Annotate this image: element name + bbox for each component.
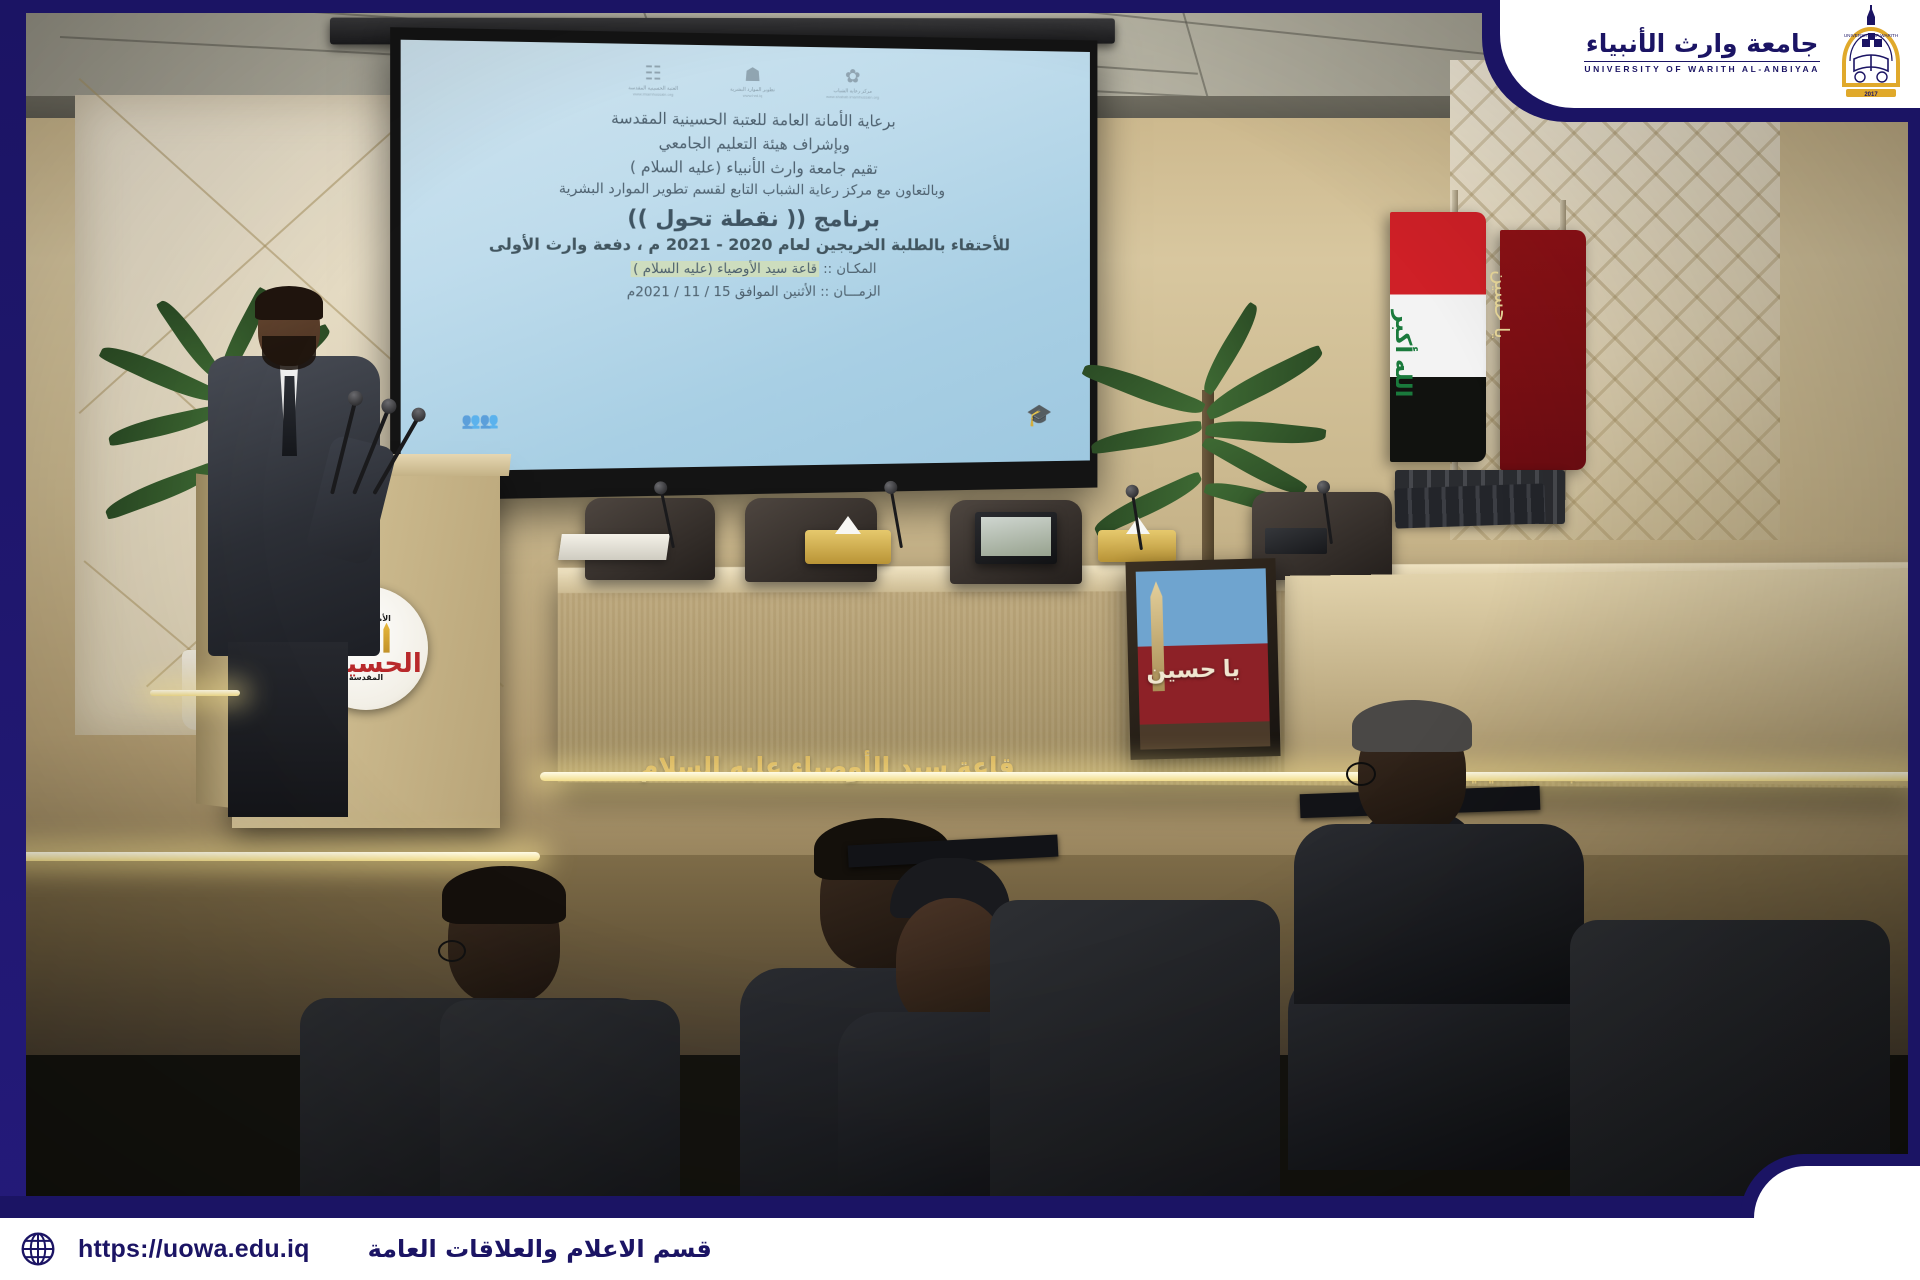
- al-abbas-holy-shrine-logo: ☷ العتبة الحسينية المقدسة www.imamhussai…: [628, 64, 678, 97]
- projector-screen: ☷ العتبة الحسينية المقدسة www.imamhussai…: [390, 27, 1097, 501]
- graduation-cap-icon: 🎓: [1026, 403, 1052, 429]
- iraq-flag: الله أكبر: [1390, 212, 1486, 462]
- wordmark-english: UNIVERSITY OF WARITH AL-ANBIYAA: [1584, 61, 1820, 74]
- header-badge: جامعة وارث الأنبياء UNIVERSITY OF WARITH…: [1500, 0, 1920, 108]
- slide-line-4: وبالتعاون مع مركز رعاية الشباب التابع لق…: [428, 178, 1066, 204]
- name-plate: [1265, 528, 1327, 554]
- laptop-on-table: [975, 512, 1057, 564]
- red-flag-text: يا حسين: [1489, 270, 1514, 339]
- bottom-right-curve-inner: [1754, 1166, 1920, 1218]
- slide-subtitle: للأحتفاء بالطلبة الخريجين لعام 2020 - 20…: [428, 234, 1066, 254]
- venue-label: المكـان ::: [823, 261, 876, 277]
- red-ceremonial-flag: يا حسين: [1500, 230, 1586, 470]
- slide-time-row: الزمـــان :: الأثنين الموافق 15 / 11 / 2…: [428, 283, 1066, 300]
- slide-logo-row: ☷ العتبة الحسينية المقدسة www.imamhussai…: [628, 64, 879, 100]
- led-strip: [150, 690, 240, 696]
- photograph: ☷ العتبة الحسينية المقدسة www.imamhussai…: [0, 0, 1920, 1280]
- book-dome-icon: ☗: [744, 66, 761, 85]
- crest-year: 2017: [1864, 92, 1878, 98]
- department-label: قسم الاعلام والعلاقات العامة: [368, 1235, 712, 1263]
- shrine-icon: ☷: [645, 64, 662, 83]
- globe-icon: [20, 1231, 56, 1267]
- youth-care-center-logo: ✿ مركز رعاية الشباب www.shabab.imamhussa…: [826, 67, 879, 100]
- bottom-brand-bar: [0, 1196, 1920, 1218]
- logo-url: www.imamhussain.org: [633, 91, 673, 97]
- logo-url: www.shabab.imamhussain.org: [826, 94, 879, 100]
- event-photo-card: ☷ العتبة الحسينية المقدسة www.imamhussai…: [0, 0, 1920, 1280]
- human-resources-development-logo: ☗ تطوير الموارد البشرية www.hrd.iq: [730, 66, 775, 99]
- slide-surface: ☷ العتبة الحسينية المقدسة www.imamhussai…: [401, 40, 1090, 472]
- venue-value: قاعة سيد الأوصياء (عليه السلام ): [631, 261, 819, 277]
- logo-url: www.hrd.iq: [743, 93, 762, 98]
- youth-icon: ✿: [845, 67, 861, 86]
- university-wordmark: جامعة وارث الأنبياء UNIVERSITY OF WARITH…: [1584, 29, 1820, 74]
- right-brand-bar: [1908, 90, 1920, 1280]
- led-strip: [0, 852, 540, 861]
- speaker-at-podium: [200, 290, 390, 810]
- tissue-box: [805, 530, 891, 564]
- university-crest-logo: UNIVERSITY OF WARITH 2017: [1834, 3, 1908, 99]
- framed-photo-text: يا حسين: [1146, 655, 1240, 684]
- slide-text-block: برعاية الأمانة العامة للعتبة الحسينية ال…: [428, 104, 1066, 301]
- left-brand-bar: [0, 0, 26, 1280]
- audience-member-back-right: [1300, 700, 1600, 960]
- slide-program-title: برنامج (( نقطة تحول )): [428, 205, 1066, 232]
- time-value: الأثنين الموافق 15 / 11 / 2021م: [627, 284, 816, 300]
- stacked-gift-boxes: [1394, 483, 1545, 528]
- footer-bar: https://uowa.edu.iq قسم الاعلام والعلاقا…: [0, 1218, 1920, 1280]
- slide-venue-row: المكـان :: قاعة سيد الأوصياء (عليه السلا…: [428, 261, 1066, 277]
- led-strip: [540, 772, 1920, 781]
- iraq-flag-kufic-text: الله أكبر: [1390, 310, 1416, 397]
- wordmark-arabic: جامعة وارث الأنبياء: [1586, 29, 1819, 58]
- top-brand-bar: [26, 0, 1526, 13]
- framed-photograph: يا حسين: [1125, 558, 1280, 760]
- time-label: الزمـــان ::: [820, 284, 880, 300]
- stack-of-papers: [558, 534, 670, 560]
- framed-photo-image: يا حسين: [1136, 568, 1271, 749]
- website-url[interactable]: https://uowa.edu.iq: [78, 1235, 310, 1264]
- graduates-silhouette-icon: 👥👥: [461, 411, 498, 430]
